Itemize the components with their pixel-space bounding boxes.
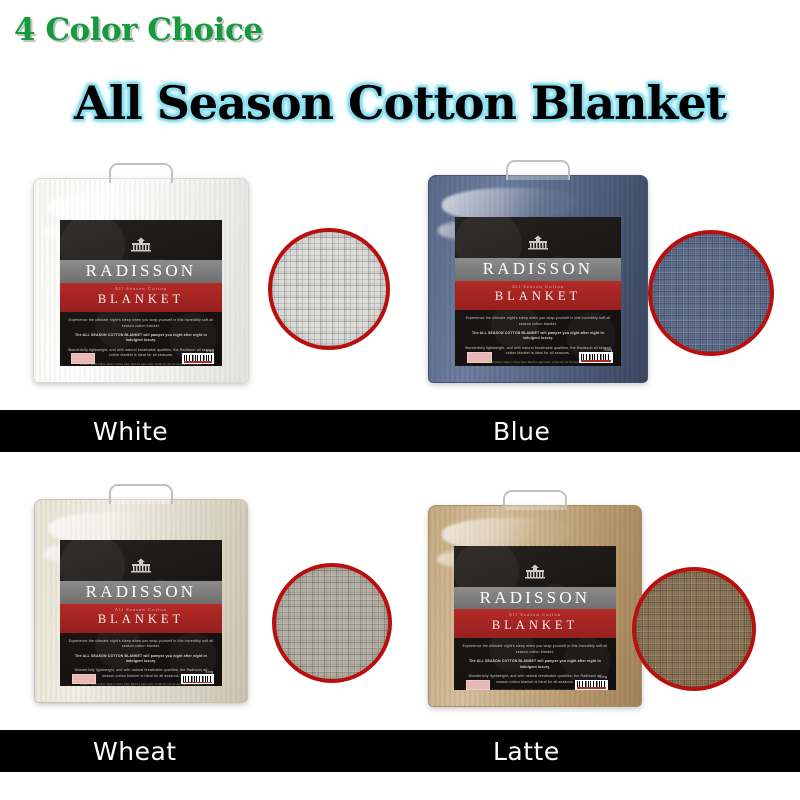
fabric-swatch-white — [268, 228, 390, 350]
package-wheat: RADISSON All Season Cotton BLANKET Exper… — [34, 499, 248, 703]
copy-line-1: Experience the ultimate night's sleep wh… — [462, 644, 607, 655]
barcode-brand-strip — [183, 682, 211, 684]
fabric-swatch-wheat — [272, 563, 392, 683]
product-cell-white: RADISSON All Season Cotton BLANKET Exper… — [0, 150, 400, 408]
product-listing-image: 4 Color Choice All Season Cotton Blanket — [0, 0, 800, 800]
product-red-band: All Season Cotton BLANKET — [60, 604, 221, 633]
color-name-banner-row1: White Blue — [0, 410, 800, 452]
brand-label-card: RADISSON All Season Cotton BLANKET Exper… — [454, 546, 615, 690]
band-cell-wheat: Wheat — [0, 730, 400, 772]
label-copy: Experience the ultimate night's sleep wh… — [60, 312, 223, 366]
weave-texture — [276, 567, 388, 679]
copy-line-2: The ALL SEASON COTTON BLANKET will pampe… — [68, 333, 215, 344]
brand-label-card: RADISSON All Season Cotton BLANKET Exper… — [455, 217, 621, 365]
label-copy: Experience the ultimate night's sleep wh… — [455, 310, 621, 365]
carry-handle-icon — [506, 160, 570, 180]
barcode-brand-strip — [184, 361, 213, 363]
label-copy: Experience the ultimate night's sleep wh… — [60, 633, 221, 686]
barcode-box — [575, 680, 607, 690]
carry-handle-icon — [503, 490, 567, 510]
product-name: BLANKET — [454, 618, 615, 634]
brand-band: RADISSON — [60, 260, 223, 283]
color-chip — [466, 680, 490, 690]
fabric-swatch-blue — [648, 230, 774, 356]
package-white: RADISSON All Season Cotton BLANKET Exper… — [33, 178, 249, 383]
color-chip — [467, 352, 492, 363]
color-chip — [71, 353, 95, 363]
product-cell-wheat: RADISSON All Season Cotton BLANKET Exper… — [0, 485, 400, 725]
brand-label-card: RADISSON All Season Cotton BLANKET Exper… — [60, 540, 221, 685]
brand-name: RADISSON — [60, 261, 223, 281]
product-cell-latte: RADISSON All Season Cotton BLANKET Exper… — [400, 485, 800, 725]
hotel-crest-icon — [60, 540, 221, 578]
fabric-swatch-latte — [632, 567, 756, 691]
weave-texture — [636, 571, 752, 687]
band-cell-blue: Blue — [400, 410, 800, 452]
color-name-banner-row2: Wheat Latte — [0, 730, 800, 772]
package-latte: RADISSON All Season Cotton BLANKET Exper… — [428, 505, 642, 707]
weave-texture — [652, 234, 770, 352]
copy-line-2: The ALL SEASON COTTON BLANKET will pampe… — [463, 331, 613, 342]
product-cell-blue: RADISSON All Season Cotton BLANKET Exper… — [400, 150, 800, 408]
copy-line-1: Experience the ultimate night's sleep wh… — [68, 318, 215, 329]
color-chip — [72, 674, 96, 684]
brand-band: RADISSON — [454, 587, 615, 610]
copy-line-2: The ALL SEASON COTTON BLANKET will pampe… — [68, 654, 213, 665]
hotel-crest-icon — [455, 217, 621, 255]
product-name: BLANKET — [60, 292, 223, 308]
band-cell-white: White — [0, 410, 400, 452]
color-name-wheat: Wheat — [93, 739, 177, 764]
copy-line-1: Experience the ultimate night's sleep wh… — [68, 639, 213, 650]
brand-name: RADISSON — [455, 259, 621, 279]
weave-texture — [272, 232, 386, 346]
brand-name: RADISSON — [60, 582, 221, 602]
copy-line-1: Experience the ultimate night's sleep wh… — [463, 316, 613, 327]
hotel-crest-icon — [454, 546, 615, 584]
hotel-crest-icon — [60, 220, 223, 258]
copy-line-2: The ALL SEASON COTTON BLANKET will pampe… — [462, 659, 607, 670]
package-blue: RADISSON All Season Cotton BLANKET Exper… — [428, 175, 648, 383]
color-name-latte: Latte — [493, 739, 560, 764]
page-title: All Season Cotton Blanket — [74, 76, 726, 130]
product-red-band: All Season Cotton BLANKET — [455, 281, 621, 310]
barcode-box — [182, 353, 215, 363]
barcode-box — [579, 352, 612, 363]
product-red-band: All Season Cotton BLANKET — [60, 283, 223, 312]
brand-label-card: RADISSON All Season Cotton BLANKET Exper… — [60, 220, 223, 366]
band-cell-latte: Latte — [400, 730, 800, 772]
product-red-band: All Season Cotton BLANKET — [454, 609, 615, 638]
product-name: BLANKET — [60, 612, 221, 628]
label-copy: Experience the ultimate night's sleep wh… — [454, 638, 615, 690]
brand-band: RADISSON — [455, 258, 621, 281]
product-name: BLANKET — [455, 289, 621, 305]
brand-band: RADISSON — [60, 581, 221, 604]
barcode-brand-strip — [577, 687, 605, 689]
color-name-white: White — [93, 419, 168, 444]
carry-handle-icon — [109, 484, 173, 504]
barcode-box — [181, 674, 213, 684]
barcode-brand-strip — [581, 360, 610, 362]
eyebrow-headline: 4 Color Choice — [14, 12, 263, 48]
carry-handle-icon — [109, 163, 173, 183]
color-name-blue: Blue — [493, 419, 550, 444]
brand-name: RADISSON — [454, 588, 615, 608]
